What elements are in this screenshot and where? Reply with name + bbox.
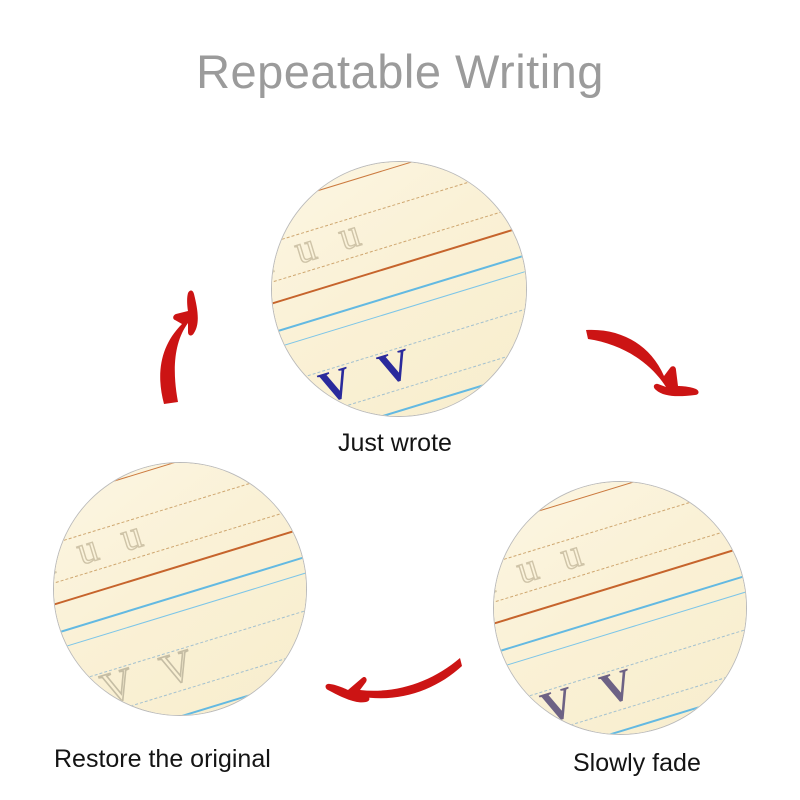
step-image-restore-the-original: u u u u u V V V V 伞 (54, 463, 306, 715)
step-image-just-wrote: u u u u u V V V V (272, 162, 526, 416)
infographic-stage: Repeatable Writing u u u u u (0, 0, 800, 800)
step-label-slowly-fade: Slowly fade (573, 749, 701, 778)
arrow-wrote-to-fade-icon (586, 300, 716, 430)
page-title: Repeatable Writing (0, 44, 800, 99)
step-image-slowly-fade: u u u u u V V V V V V 伞 (494, 482, 746, 734)
step-label-restore-the-original: Restore the original (54, 745, 271, 774)
workbook-page-restore-the-original: u u u u u V V V V 伞 (54, 463, 306, 715)
step-label-just-wrote: Just wrote (338, 429, 452, 458)
arrow-fade-to-restore-icon (322, 652, 462, 742)
arrow-restore-to-wrote-icon (126, 286, 246, 406)
workbook-page-just-wrote: u u u u u V V V V (272, 162, 526, 416)
workbook-page-slowly-fade: u u u u u V V V V V V 伞 (494, 482, 746, 734)
